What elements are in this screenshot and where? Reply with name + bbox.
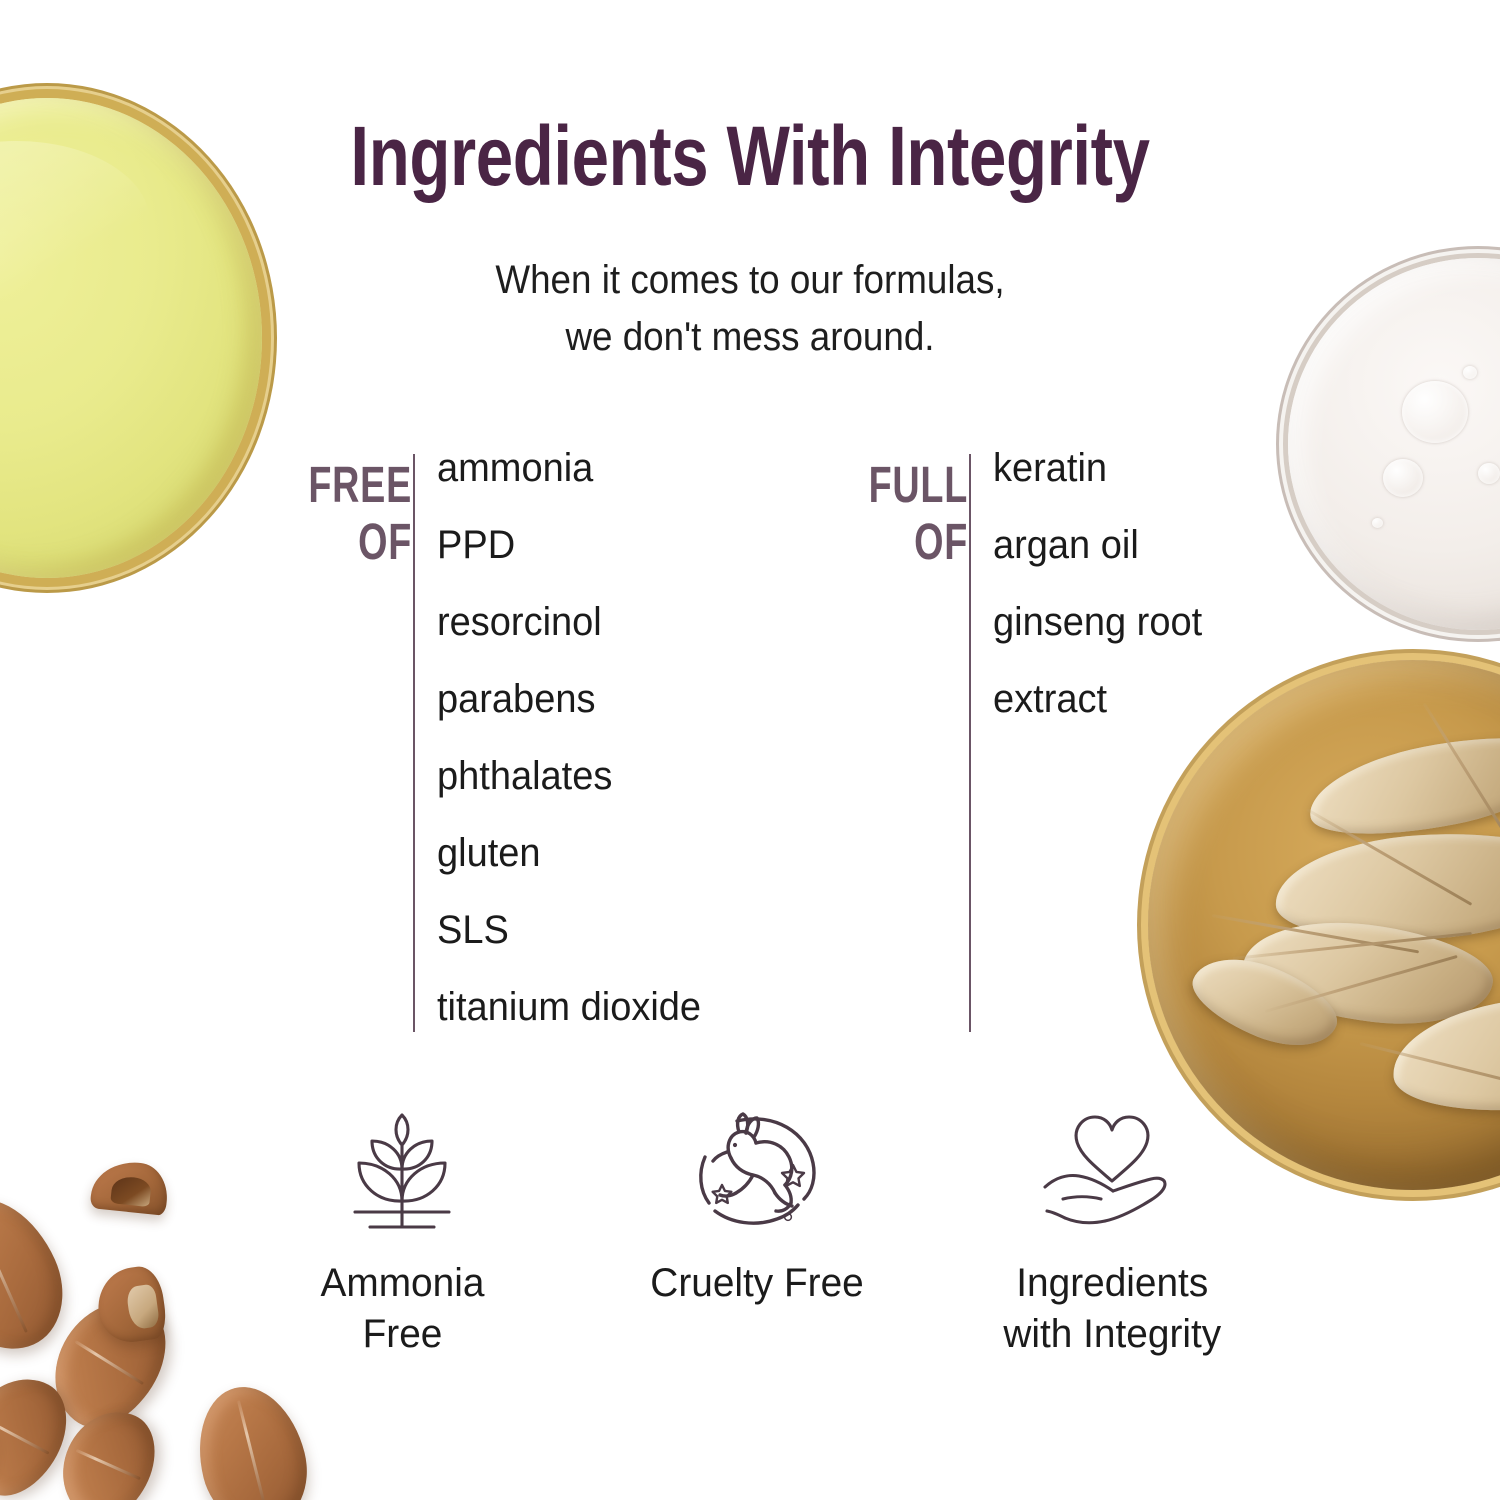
page-subtitle-line-2: we don't mess around. [60, 309, 1440, 366]
list-item: ammonia [437, 448, 701, 488]
badge-label-line-2: with Integrity [1003, 1309, 1221, 1360]
page-title: Ingredients With Integrity [150, 108, 1350, 205]
argan-nut [0, 1395, 5, 1500]
ginseng-root [1183, 942, 1348, 1063]
badge-ammonia-free: Ammonia Free [252, 1108, 552, 1360]
full-of-label-line-2: OF [850, 513, 968, 570]
ginseng-rootlet [1306, 809, 1472, 907]
badge-label-ingredients-with-integrity: Ingredients with Integrity [1003, 1258, 1221, 1360]
list-item: gluten [437, 833, 701, 873]
page-subtitle-line-1: When it comes to our formulas, [60, 252, 1440, 309]
gel-bubble [1402, 381, 1468, 443]
full-of-label: FULL OF [850, 456, 968, 570]
badge-label-line-1: Ingredients [1003, 1258, 1221, 1309]
badge-label-cruelty-free: Cruelty Free [650, 1258, 863, 1309]
argan-nut [0, 1180, 83, 1368]
list-item: ginseng root [993, 602, 1202, 642]
list-item: PPD [437, 525, 701, 565]
ginseng-root [1387, 985, 1500, 1124]
badge-label-ammonia-free: Ammonia Free [320, 1258, 484, 1360]
leaping-bunny-icon [691, 1108, 823, 1236]
ginseng-rootlet [1264, 955, 1457, 1013]
argan-shell-piece [93, 1264, 169, 1346]
ingredients-with-integrity-infographic: Ingredients With Integrity When it comes… [0, 0, 1500, 1500]
full-of-label-line-1: FULL [850, 456, 968, 513]
ginseng-root [1272, 825, 1500, 950]
ginseng-root [1238, 910, 1498, 1036]
list-item: parabens [437, 679, 701, 719]
argan-nut [32, 1280, 186, 1446]
full-of-divider [969, 454, 971, 1032]
free-of-label-line-1: FREE [294, 456, 412, 513]
free-of-label: FREE OF [294, 456, 412, 570]
badge-label-line-2: Free [320, 1309, 484, 1360]
gel-bubble [1383, 459, 1423, 497]
list-item: extract [993, 679, 1202, 719]
badge-ingredients-with-integrity: Ingredients with Integrity [962, 1108, 1262, 1360]
ginseng-rootlet [1211, 914, 1418, 953]
ginseng-rootlet [1422, 703, 1500, 849]
argan-nut [46, 1396, 170, 1500]
page-subtitle: When it comes to our formulas, we don't … [60, 252, 1440, 366]
badge-cruelty-free: Cruelty Free [607, 1108, 907, 1360]
free-of-label-line-2: OF [294, 513, 412, 570]
list-item: phthalates [437, 756, 701, 796]
list-item: SLS [437, 910, 701, 950]
gel-bubble [1478, 463, 1500, 484]
list-item: argan oil [993, 525, 1202, 565]
ginseng-rootlet [1360, 1042, 1500, 1098]
list-item: resorcinol [437, 602, 701, 642]
free-of-divider [413, 454, 415, 1032]
badge-label-line-1: Cruelty Free [650, 1258, 863, 1309]
free-of-list: ammonia PPD resorcinol parabens phthalat… [437, 448, 715, 1064]
ginseng-root [1302, 721, 1500, 851]
certification-badges: Ammonia Free [252, 1108, 1262, 1360]
gel-bubble [1372, 518, 1383, 528]
argan-nut [184, 1376, 319, 1500]
ginseng-rootlet [1233, 932, 1472, 960]
full-of-list: keratin argan oil ginseng root extract [993, 448, 1213, 756]
hand-holding-heart-icon [1037, 1108, 1187, 1236]
sprout-plant-icon [339, 1108, 465, 1236]
list-item: titanium dioxide [437, 987, 701, 1027]
list-item: keratin [993, 448, 1202, 488]
argan-nut [0, 1361, 84, 1500]
argan-shell-piece [90, 1158, 171, 1216]
badge-label-line-1: Ammonia [320, 1258, 484, 1309]
gel-bubble [1463, 366, 1477, 379]
